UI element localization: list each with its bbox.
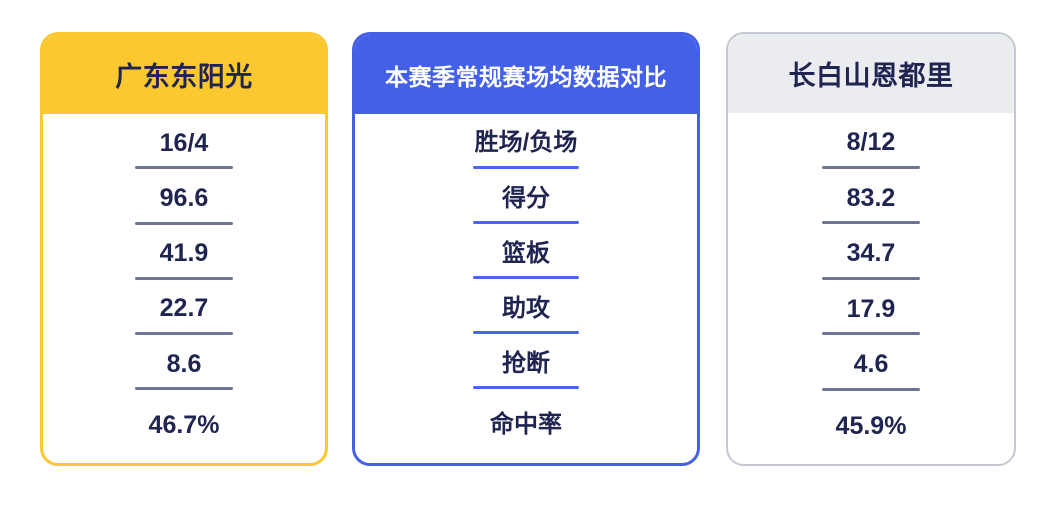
team-left-stats-list: 16/4 96.6 41.9 22.7 8.6 46.7% bbox=[43, 114, 325, 463]
stat-row: 22.7 bbox=[43, 288, 325, 343]
stat-divider bbox=[135, 166, 233, 169]
stat-divider bbox=[822, 166, 920, 169]
stat-divider bbox=[473, 386, 579, 389]
stat-row: 34.7 bbox=[728, 232, 1014, 288]
team-card-left: 广东东阳光 16/4 96.6 41.9 22.7 8.6 bbox=[40, 32, 328, 466]
stat-divider bbox=[822, 277, 920, 280]
stat-divider bbox=[473, 221, 579, 224]
team-left-title: 广东东阳光 bbox=[43, 35, 325, 114]
stat-label: 助攻 bbox=[502, 296, 550, 322]
stat-value: 46.7% bbox=[149, 412, 220, 440]
stat-value: 16/4 bbox=[160, 130, 209, 158]
stat-row: 46.7% bbox=[43, 398, 325, 453]
stat-row: 41.9 bbox=[43, 232, 325, 287]
stats-comparison-board: 广东东阳光 16/4 96.6 41.9 22.7 8.6 bbox=[0, 0, 1052, 508]
stat-row: 篮板 bbox=[355, 232, 697, 287]
stat-value: 41.9 bbox=[160, 240, 209, 268]
team-card-right: 长白山恩都里 8/12 83.2 34.7 17.9 4.6 bbox=[726, 32, 1016, 466]
stat-row: 胜场/负场 bbox=[355, 122, 697, 177]
stat-value: 34.7 bbox=[847, 240, 896, 268]
stat-divider bbox=[135, 222, 233, 225]
stat-label: 篮板 bbox=[502, 241, 550, 267]
stat-value: 8.6 bbox=[167, 351, 202, 379]
stat-value: 83.2 bbox=[847, 185, 896, 213]
stat-row: 得分 bbox=[355, 177, 697, 232]
stat-row: 16/4 bbox=[43, 122, 325, 177]
stat-value: 8/12 bbox=[847, 129, 896, 157]
stat-label: 命中率 bbox=[490, 412, 562, 438]
team-right-stats-list: 8/12 83.2 34.7 17.9 4.6 45.9% bbox=[728, 113, 1014, 464]
stat-row: 4.6 bbox=[728, 343, 1014, 399]
stat-label: 得分 bbox=[502, 186, 550, 212]
stat-value: 96.6 bbox=[160, 185, 209, 213]
stat-divider bbox=[135, 277, 233, 280]
stat-row: 45.9% bbox=[728, 399, 1014, 455]
stat-divider bbox=[473, 331, 579, 334]
stat-row: 命中率 bbox=[355, 398, 697, 453]
stat-value: 22.7 bbox=[160, 295, 209, 323]
stat-row: 96.6 bbox=[43, 177, 325, 232]
stat-divider bbox=[473, 166, 579, 169]
stat-divider bbox=[473, 276, 579, 279]
stat-row: 8/12 bbox=[728, 121, 1014, 177]
stat-row: 8.6 bbox=[43, 343, 325, 398]
stat-divider bbox=[135, 332, 233, 335]
stat-value: 4.6 bbox=[854, 351, 889, 379]
stat-value: 17.9 bbox=[847, 296, 896, 324]
stat-divider bbox=[822, 332, 920, 335]
stat-labels-card: 本赛季常规赛场均数据对比 胜场/负场 得分 篮板 助攻 抢断 bbox=[352, 32, 700, 466]
stat-row: 助攻 bbox=[355, 288, 697, 343]
stat-value: 45.9% bbox=[836, 413, 907, 441]
stat-label: 抢断 bbox=[502, 351, 550, 377]
stat-row: 抢断 bbox=[355, 343, 697, 398]
stat-divider bbox=[822, 221, 920, 224]
stat-labels-list: 胜场/负场 得分 篮板 助攻 抢断 命中率 bbox=[355, 114, 697, 463]
stat-divider bbox=[135, 387, 233, 390]
stat-label: 胜场/负场 bbox=[475, 130, 578, 156]
stat-divider bbox=[822, 388, 920, 391]
stat-row: 83.2 bbox=[728, 177, 1014, 233]
comparison-title: 本赛季常规赛场均数据对比 bbox=[355, 35, 697, 114]
stat-row: 17.9 bbox=[728, 288, 1014, 344]
team-right-title: 长白山恩都里 bbox=[728, 34, 1014, 113]
